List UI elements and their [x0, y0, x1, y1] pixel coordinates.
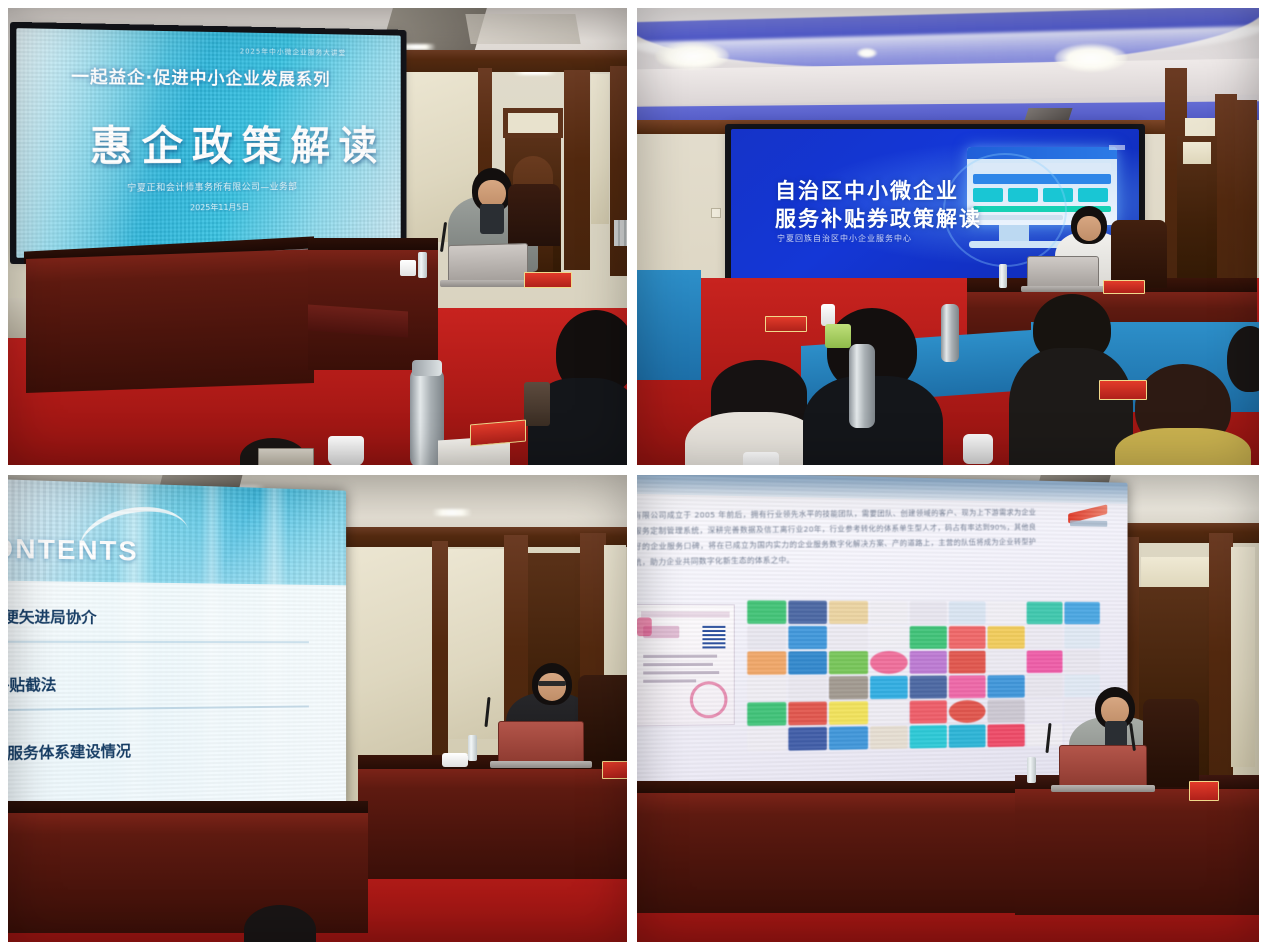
presenter-chair: [578, 675, 627, 767]
photo-collage: 2025年中小微企业服务大讲堂 一起益企·促进中小企业发展系列 惠企政策解读 宁…: [0, 0, 1267, 950]
slide-title-line2: 服务补贴券政策解读: [775, 203, 982, 233]
beverage-can: [825, 324, 851, 348]
slide-title-line1: 自治区中小微企业: [775, 175, 959, 205]
ceiling-slot-light: [432, 509, 472, 516]
name-plate: [258, 448, 314, 465]
audience-body: [1115, 428, 1251, 465]
podium: [1015, 789, 1259, 915]
water-bottles: [614, 220, 627, 246]
water-bottle: [999, 264, 1007, 288]
audience-body: [1009, 348, 1133, 465]
laptop-base: [490, 761, 592, 768]
wall-wood-stile: [432, 541, 448, 771]
door-transom: [503, 108, 563, 138]
tea-cup: [743, 452, 779, 465]
water-bottle: [418, 252, 427, 278]
tea-cup: [328, 436, 364, 465]
name-plate: [1189, 781, 1219, 801]
water-bottle: [1027, 757, 1036, 783]
wall-wood-stile: [564, 70, 590, 270]
laptop-base: [1051, 785, 1155, 792]
podium-left: [637, 793, 1017, 913]
door-transom: [1141, 557, 1209, 589]
ceiling-downlight: [1055, 44, 1127, 72]
presenter-chair: [508, 184, 560, 246]
presenter-chair: [1111, 220, 1167, 288]
paper-tissue: [442, 753, 468, 767]
name-plate: [602, 761, 627, 779]
wall-socket: [711, 208, 721, 218]
wall-fabric-panel: [591, 74, 609, 224]
paper-cup: [524, 382, 550, 426]
podium: [26, 249, 314, 393]
collage-panel-bottom-left: CONTENTS 一、不便矢进局协介 二、补贴截法 三、共服务体系建设情况: [8, 475, 627, 942]
thermos-flask: [941, 304, 959, 362]
presenter-tie: [480, 204, 504, 234]
wall-fabric-panel: [1231, 547, 1255, 767]
presenter-chair: [1143, 699, 1199, 787]
tea-cup: [963, 434, 993, 464]
attendee-table: [637, 270, 701, 380]
laptop-screen: [1059, 745, 1147, 789]
podium: [358, 769, 627, 879]
tea-cup: [821, 304, 835, 326]
thermos-flask: [849, 344, 875, 428]
podium-left: [8, 813, 368, 933]
name-plate: [524, 272, 572, 288]
presentation-screen: 2025年中小微企业服务大讲堂 一起益企·促进中小企业发展系列 惠企政策解读 宁…: [16, 28, 400, 258]
name-plate: [1103, 280, 1145, 294]
door-transom: [1183, 142, 1211, 164]
laptop-base: [440, 280, 536, 287]
slide-subtitle: 宁夏回族自治区中小企业服务中心: [777, 233, 912, 244]
collage-panel-top-left: 2025年中小微企业服务大讲堂 一起益企·促进中小企业发展系列 惠企政策解读 宁…: [8, 8, 627, 465]
laptop-screen: [498, 721, 584, 765]
presenter-face: [1077, 216, 1101, 241]
laptop-screen: [1027, 256, 1099, 290]
slide-decor-mark: [1109, 145, 1125, 150]
collage-panel-bottom-right: 有限公司成立于 2005 年前后，拥有行业领先水平的技能团队，需要团队、创建领域…: [637, 475, 1259, 942]
presentation-screen: CONTENTS 一、不便矢进局协介 二、补贴截法 三、共服务体系建设情况: [8, 479, 346, 821]
ceiling-spot-light: [857, 48, 877, 58]
tea-cup: [400, 260, 416, 276]
presentation-screen: 有限公司成立于 2005 年前后，拥有行业领先水平的技能团队，需要团队、创建领域…: [637, 475, 1128, 793]
ceiling-downlight: [655, 42, 729, 70]
wall-fabric-panel: [448, 549, 506, 739]
wall-cornice: [400, 50, 627, 72]
wall-fabric-panel: [338, 547, 434, 757]
presenter-face: [538, 673, 566, 701]
collage-panel-top-right: 自治区中小微企业 服务补贴券政策解读 宁夏回族自治区中小企业服务中心: [637, 8, 1259, 465]
ceiling-soffit: [465, 14, 580, 44]
thermos-cap: [412, 360, 442, 376]
laptop-screen: [448, 243, 528, 285]
wall-wood-stile: [1209, 533, 1233, 803]
water-bottle: [468, 735, 477, 761]
name-plate: [765, 316, 807, 332]
laptop-base: [1021, 286, 1105, 292]
name-plate: [1099, 380, 1147, 400]
eyeglasses: [538, 681, 566, 686]
